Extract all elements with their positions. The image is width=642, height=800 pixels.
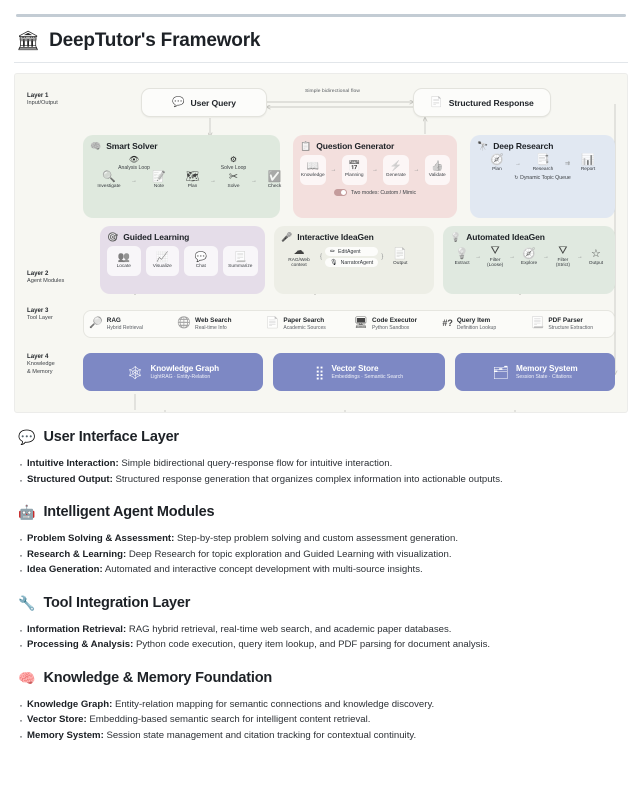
- tool-query-item[interactable]: #? Query Item Definition Lookup: [437, 317, 525, 331]
- list-item: Vector Store: Embedding-based semantic s…: [18, 712, 624, 728]
- clipboard-icon: 📋: [300, 142, 311, 151]
- user-query-node[interactable]: 💬 User Query: [141, 88, 267, 117]
- section-tool-integration-layer: 🔧 Tool Integration Layer Information Ret…: [14, 595, 628, 653]
- funnel-icon: ⛛: [558, 246, 567, 257]
- chip-knowledge: 📖 Knowledge: [300, 155, 326, 185]
- memory-vector-store[interactable]: ⣿ Vector Store Embeddings · Semantic Sea…: [273, 353, 445, 391]
- layer-label-2: Layer 2Agent Modules: [27, 270, 64, 285]
- tool-rag[interactable]: 🔎 RAG Hybrid Retrieval: [84, 317, 172, 331]
- section-title: User Interface Layer: [43, 429, 178, 445]
- step-filter-loose: ⛛ Filter (Loose): [482, 246, 508, 268]
- module-automated-ideagen[interactable]: 💡 Automated IdeaGen 💡 Extract → ⛛ Filter…: [443, 226, 615, 294]
- mode-toggle-row[interactable]: Two modes: Custom / Mimic: [300, 189, 450, 196]
- list-item: Structured Output: Structured response g…: [18, 472, 624, 488]
- doc-search-icon: 📑: [536, 155, 550, 166]
- document-lines-icon: 📃: [234, 253, 246, 263]
- section-title: Knowledge & Memory Foundation: [43, 670, 272, 686]
- module-guided-learning[interactable]: 🎯 Guided Learning 👥 Locate 📈 Visualize 💬…: [100, 226, 265, 294]
- step-solve: ✂ Solve: [219, 172, 248, 189]
- bolt-icon: ⚡: [390, 162, 402, 172]
- arrow-icon: ⇉: [565, 160, 570, 167]
- page-root: 🏛 DeepTutor's Framework: [0, 0, 642, 800]
- wrench-icon: 🔧: [18, 596, 35, 610]
- mic-small-icon: 🎙: [330, 259, 338, 266]
- module-header: 🎯 Guided Learning: [107, 232, 258, 242]
- cloud-icon: ☁: [294, 246, 305, 257]
- section-header: 🧠 Knowledge & Memory Foundation: [18, 670, 624, 686]
- chip-summarize: 📃 Summarize: [223, 246, 258, 276]
- arrow-icon: →: [577, 254, 583, 260]
- module-header: 📋 Question Generator: [300, 141, 450, 151]
- paper-icon: 📄: [266, 318, 280, 329]
- document-sparkle-icon: 📄: [430, 98, 442, 108]
- refresh-icon: ↻: [514, 175, 518, 181]
- step-explore: 🧭 Explore: [516, 249, 542, 266]
- arrow-icon: →: [331, 167, 337, 173]
- step-plan: 🗺 Plan: [178, 172, 207, 189]
- memory-memory-system[interactable]: 🗂 Memory System Session State · Citation…: [455, 353, 615, 391]
- analysis-loop: 👁 Analysis Loop 🔍 Investigate → 📝 Note: [90, 155, 178, 189]
- list-item: Problem Solving & Assessment: Step-by-st…: [18, 531, 624, 547]
- gear-icon: ⚙: [230, 155, 237, 164]
- terminal-icon: 🖥: [354, 318, 368, 329]
- arrow-icon: →: [509, 254, 515, 260]
- telescope-icon: 🔭: [477, 142, 488, 151]
- module-header: 🧠 Smart Solver: [90, 141, 273, 151]
- section-header: 🔧 Tool Integration Layer: [18, 595, 624, 611]
- dynamic-topic-queue-note: ↻ Dynamic Topic Queue: [477, 175, 608, 181]
- bank-icon: 🏛: [16, 32, 40, 51]
- brace-icon: }: [381, 254, 383, 260]
- chip-planning: 📅 Planning: [342, 155, 368, 185]
- brace-icon: {: [320, 254, 322, 260]
- bullet-list: Problem Solving & Assessment: Step-by-st…: [18, 531, 624, 578]
- agent-narrator: 🎙 NarratorAgent: [325, 258, 378, 267]
- structured-response-node[interactable]: 📄 Structured Response: [413, 88, 551, 117]
- arrow-icon: →: [131, 178, 137, 184]
- step-research: 📑 Research: [524, 155, 562, 172]
- list-item: Knowledge Graph: Entity-relation mapping…: [18, 697, 624, 713]
- list-item: Intuitive Interaction: Simple bidirectio…: [18, 456, 624, 472]
- module-header: 💡 Automated IdeaGen: [450, 232, 608, 242]
- layer-label-4: Layer 4Knowledge & Memory: [27, 346, 55, 376]
- module-question-generator[interactable]: 📋 Question Generator 📖 Knowledge → 📅 Pla…: [293, 135, 457, 218]
- arrow-icon: →: [543, 254, 549, 260]
- star-icon: ☆: [591, 249, 601, 260]
- funnel-icon: ⛛: [490, 246, 499, 257]
- line-chart-icon: 📈: [156, 253, 168, 263]
- chip-generate: ⚡ Generate: [383, 155, 409, 185]
- step-plan: 🧭 Plan: [482, 155, 512, 172]
- tool-paper-search[interactable]: 📄 Paper Search Academic Sources: [261, 317, 349, 331]
- arrow-icon: →: [475, 254, 481, 260]
- section-knowledge-memory-foundation: 🧠 Knowledge & Memory Foundation Knowledg…: [14, 670, 628, 744]
- tool-code-executor[interactable]: 🖥 Code Executor Python Sandbox: [349, 317, 437, 331]
- step-check: ✅ Check: [260, 172, 289, 189]
- graph-nodes-icon: 🕸: [127, 366, 144, 379]
- pin-people-icon: 👥: [118, 253, 130, 263]
- dots-grid-icon: ⣿: [315, 366, 325, 379]
- step-extract: 💡 Extract: [450, 249, 474, 266]
- chip-validate: 👍 Validate: [425, 155, 451, 185]
- step-investigate: 🔍 Investigate: [90, 172, 128, 189]
- output-node: 📄 Output: [386, 249, 414, 266]
- brain-icon: 🧠: [90, 142, 101, 151]
- section-intelligent-agent-modules: 🤖 Intelligent Agent Modules Problem Solv…: [14, 504, 628, 578]
- layers-icon: 🗂: [492, 366, 509, 379]
- chat-icon: 💬: [172, 98, 184, 108]
- lightbulb-icon: 💡: [450, 233, 461, 242]
- compass-small-icon: 🧭: [522, 249, 536, 260]
- layer-label-1: Layer 1Input/Output: [27, 92, 58, 107]
- blueprint-icon: 🗺: [186, 172, 200, 183]
- globe-icon: 🌐: [177, 318, 191, 329]
- arrow-icon: →: [210, 178, 216, 184]
- bullet-list: Intuitive Interaction: Simple bidirectio…: [18, 456, 624, 487]
- bullet-list: Knowledge Graph: Entity-relation mapping…: [18, 697, 624, 744]
- tool-web-search[interactable]: 🌐 Web Search Real-time Info: [172, 317, 260, 331]
- chip-chat: 💬 Chat: [184, 246, 218, 276]
- chat-bubbles-icon: 💬: [195, 253, 207, 263]
- robot-icon: 🤖: [18, 505, 35, 519]
- chip-visualize: 📈 Visualize: [146, 246, 180, 276]
- module-interactive-ideagen[interactable]: 🎤 Interactive IdeaGen ☁ RAG/Web context …: [274, 226, 434, 294]
- tool-pdf-parser[interactable]: 📃 PDF Parser Structure Extraction: [526, 317, 614, 331]
- step-filter-strict: ⛛ Filter (Strict): [550, 246, 576, 268]
- arrow-icon: →: [372, 167, 378, 173]
- agent-edit: ✏ EditAgent: [325, 247, 378, 256]
- magnifier-icon: 🔍: [102, 172, 116, 183]
- calendar-icon: 📅: [348, 162, 360, 172]
- page-title-text: DeepTutor's Framework: [49, 30, 260, 52]
- chip-locate: 👥 Locate: [107, 246, 141, 276]
- report-chart-icon: 📊: [581, 155, 595, 166]
- list-item: Idea Generation: Automated and interacti…: [18, 562, 624, 578]
- document-icon: 📄: [393, 249, 407, 260]
- list-item: Processing & Analysis: Python code execu…: [18, 637, 624, 653]
- thumbs-up-icon: 👍: [431, 162, 443, 172]
- framework-diagram: Layer 1Input/Output Layer 2Agent Modules…: [14, 73, 628, 413]
- pencil-icon: ✏: [330, 248, 335, 255]
- mode-toggle[interactable]: [334, 189, 347, 196]
- section-user-interface-layer: 💬 User Interface Layer Intuitive Interac…: [14, 429, 628, 487]
- brain-pink-icon: 🧠: [18, 671, 35, 685]
- title-divider: [14, 62, 628, 63]
- step-output: ☆ Output: [584, 249, 608, 266]
- arrow-icon: →: [251, 178, 257, 184]
- memory-knowledge-graph[interactable]: 🕸 Knowledge Graph LightRAG · Entity-Rela…: [83, 353, 263, 391]
- page-title: 🏛 DeepTutor's Framework: [14, 26, 628, 60]
- source-rag-web-context: ☁ RAG/Web context: [281, 246, 317, 268]
- solve-loop: ⚙ Solve Loop 🗺 Plan → ✂ Solve →: [178, 155, 289, 189]
- check-circle-icon: ✅: [268, 172, 282, 183]
- rag-search-icon: 🔎: [89, 318, 103, 329]
- module-smart-solver[interactable]: 🧠 Smart Solver 👁 Analysis Loop 🔍 Investi…: [83, 135, 280, 218]
- section-header: 💬 User Interface Layer: [18, 429, 624, 445]
- step-report: 📊 Report: [573, 155, 603, 172]
- module-header: 🔭 Deep Research: [477, 141, 608, 151]
- tools-icon: ✂: [229, 172, 238, 183]
- section-title: Tool Integration Layer: [43, 595, 190, 611]
- eye-icon: 👁: [129, 155, 139, 164]
- book-icon: 📖: [307, 162, 319, 172]
- pdf-icon: 📃: [531, 318, 545, 329]
- note-icon: 📝: [152, 172, 166, 183]
- module-header: 🎤 Interactive IdeaGen: [281, 232, 427, 242]
- section-title: Intelligent Agent Modules: [43, 504, 214, 520]
- arrow-icon: →: [515, 161, 521, 167]
- arrow-icon: →: [414, 167, 420, 173]
- tool-layer-bar: 🔎 RAG Hybrid Retrieval 🌐 Web Search Real…: [83, 310, 615, 338]
- list-item: Memory System: Session state management …: [18, 728, 624, 744]
- section-header: 🤖 Intelligent Agent Modules: [18, 504, 624, 520]
- compass-icon: 🧭: [490, 155, 504, 166]
- target-icon: 🎯: [107, 233, 118, 242]
- bullet-list: Information Retrieval: RAG hybrid retrie…: [18, 622, 624, 653]
- speech-bubble-icon: 💬: [18, 430, 35, 444]
- layer-label-3: Layer 3Tool Layer: [27, 307, 53, 322]
- microphone-icon: 🎤: [281, 233, 292, 242]
- module-deep-research[interactable]: 🔭 Deep Research 🧭 Plan → 📑 Research ⇉ 📊 …: [470, 135, 615, 218]
- list-item: Information Retrieval: RAG hybrid retrie…: [18, 622, 624, 638]
- hash-question-icon: #?: [442, 319, 453, 328]
- list-item: Research & Learning: Deep Research for t…: [18, 547, 624, 563]
- bulb-small-icon: 💡: [455, 249, 469, 260]
- flow-caption: Simple bidirectional flow: [305, 89, 360, 94]
- step-note: 📝 Note: [140, 172, 178, 189]
